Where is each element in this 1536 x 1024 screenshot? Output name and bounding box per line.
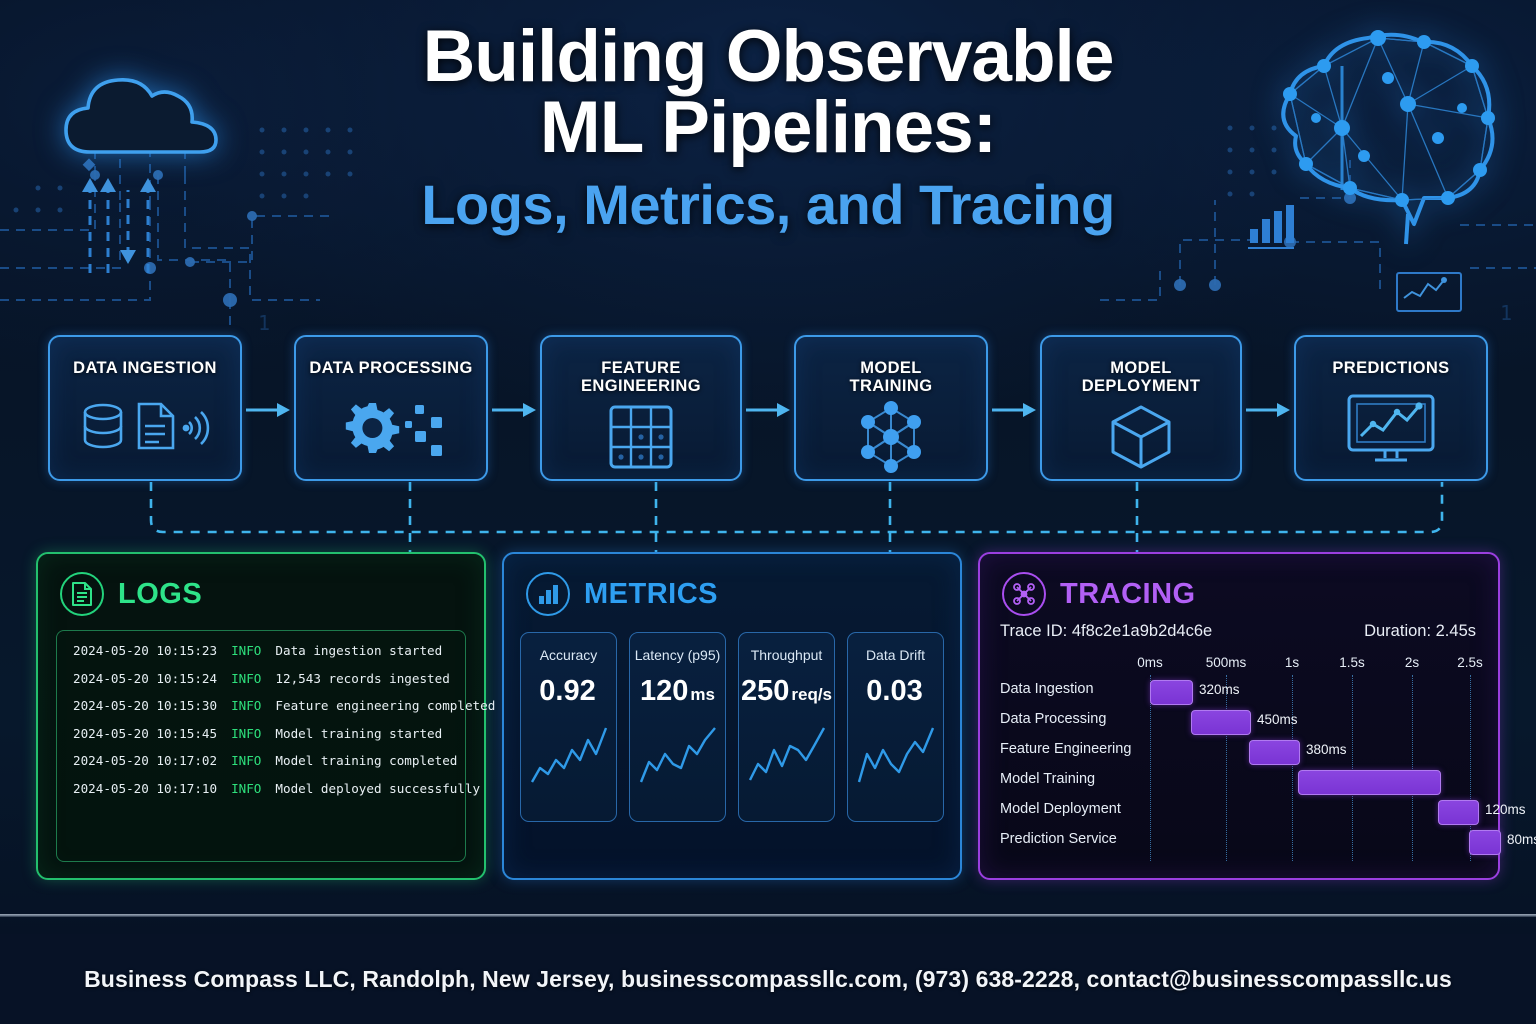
span-name: Prediction Service	[1000, 831, 1117, 847]
span-duration: 80ms	[1507, 832, 1536, 847]
list-item: 2024-05-20 10:17:10INFOModel deployed su…	[73, 783, 449, 796]
pipeline-stage-feature-engineering[interactable]: FEATURE ENGINEERING	[540, 335, 742, 481]
pipeline-stage-model-deployment[interactable]: MODEL DEPLOYMENT	[1040, 335, 1242, 481]
tracing-panel-title: TRACING	[1060, 578, 1196, 611]
metric-card-throughput[interactable]: Throughput 250req/s	[738, 632, 835, 822]
axis-tick: 1.5s	[1339, 655, 1365, 670]
metric-number: 0.92	[539, 675, 595, 707]
span-duration: 120ms	[1485, 802, 1526, 817]
pipeline-stage-label: MODEL DEPLOYMENT	[1082, 359, 1201, 396]
trace-nodes-icon	[1002, 572, 1046, 616]
sparkline-accuracy	[530, 724, 608, 791]
span-name: Feature Engineering	[1000, 741, 1131, 757]
log-message: Model training started	[275, 726, 442, 741]
log-message: Model training completed	[275, 753, 457, 768]
axis-tick: 1s	[1285, 655, 1299, 670]
table-row[interactable]: Model Deployment 120ms	[980, 799, 1498, 825]
title-main: Building Observable ML Pipelines:	[0, 22, 1536, 164]
line-chart-icon	[1396, 272, 1462, 312]
axis-tick: 500ms	[1206, 655, 1247, 670]
gantt-axis: 0ms 500ms 1s 1.5s 2s 2.5s	[980, 655, 1498, 675]
pipeline-stage-predictions[interactable]: PREDICTIONS	[1294, 335, 1488, 481]
list-item: 2024-05-20 10:15:24INFO12,543 records in…	[73, 673, 449, 686]
pipeline-stage-model-training[interactable]: MODEL TRAINING	[794, 335, 988, 481]
circuit-digit: 1	[258, 311, 270, 335]
title-line-2: ML Pipelines:	[0, 93, 1536, 164]
sparkline-data-drift	[857, 724, 935, 791]
span-bar[interactable]	[1298, 770, 1441, 795]
cube-icon	[1105, 396, 1177, 479]
stage-label-line1: FEATURE	[601, 359, 681, 377]
log-level: INFO	[231, 671, 261, 686]
span-duration: 380ms	[1306, 742, 1347, 757]
footer-contact-text: Business Compass LLC, Randolph, New Jers…	[84, 966, 1452, 993]
stage-label-line1: MODEL	[860, 359, 922, 377]
logs-panel: LOGS 2024-05-20 10:15:23INFOData ingesti…	[36, 552, 486, 880]
pipeline-stage-label: DATA PROCESSING	[309, 359, 472, 377]
stage-label-line2: ENGINEERING	[581, 377, 701, 395]
span-name: Data Processing	[1000, 711, 1106, 727]
span-name: Model Training	[1000, 771, 1095, 787]
bar-chart-icon	[526, 572, 570, 616]
trace-duration: Duration: 2.45s	[1364, 622, 1476, 641]
metric-cards: Accuracy 0.92 Latency (p95) 120ms	[520, 632, 944, 822]
stage-label-line1: MODEL	[1110, 359, 1172, 377]
log-timestamp: 2024-05-20 10:15:23	[73, 643, 217, 658]
metric-card-latency[interactable]: Latency (p95) 120ms	[629, 632, 726, 822]
document-lines-icon	[60, 572, 104, 616]
span-name: Data Ingestion	[1000, 681, 1094, 697]
arrow-right-icon	[988, 335, 1040, 485]
metric-value: 0.92	[539, 675, 597, 708]
database-document-stream-icon	[77, 377, 213, 479]
axis-tick: 2.5s	[1457, 655, 1483, 670]
log-level: INFO	[231, 753, 261, 768]
log-timestamp: 2024-05-20 10:15:24	[73, 671, 217, 686]
log-level: INFO	[231, 643, 261, 658]
metric-number: 250	[741, 675, 789, 707]
trace-gantt-chart: 0ms 500ms 1s 1.5s 2s 2.5s Data Ingestion	[980, 655, 1498, 867]
arrow-right-icon	[1242, 335, 1294, 485]
span-bar[interactable]	[1150, 680, 1193, 705]
pipeline-stage-data-processing[interactable]: DATA PROCESSING	[294, 335, 488, 481]
stage-label-line2: DEPLOYMENT	[1082, 377, 1201, 395]
pipeline-to-panels-connectors	[0, 480, 1536, 560]
list-item: 2024-05-20 10:17:02INFOModel training co…	[73, 755, 449, 768]
tracing-panel: TRACING Trace ID: 4f8c2e1a9b2d4c6e Durat…	[978, 552, 1500, 880]
infographic-root: 1 1	[0, 0, 1536, 1024]
metric-label: Latency (p95)	[635, 647, 721, 663]
log-level: INFO	[231, 781, 261, 796]
trace-id: Trace ID: 4f8c2e1a9b2d4c6e	[1000, 622, 1212, 641]
footer-divider	[0, 914, 1536, 917]
span-bar[interactable]	[1438, 800, 1479, 825]
metric-value: 120ms	[640, 675, 715, 708]
metric-number: 0.03	[866, 675, 922, 707]
title-line-1: Building Observable	[423, 16, 1114, 97]
log-level: INFO	[231, 726, 261, 741]
arrow-right-icon	[242, 335, 294, 485]
span-duration: 450ms	[1257, 712, 1298, 727]
metrics-panel-header: METRICS	[504, 554, 960, 616]
table-row[interactable]: Feature Engineering 380ms	[980, 739, 1498, 765]
table-row[interactable]: Data Ingestion 320ms	[980, 679, 1498, 705]
pipeline-stage-label: MODEL TRAINING	[850, 359, 933, 396]
pipeline-stage-data-ingestion[interactable]: DATA INGESTION	[48, 335, 242, 481]
axis-tick: 0ms	[1137, 655, 1163, 670]
monitor-chart-icon	[1341, 377, 1441, 479]
list-item: 2024-05-20 10:15:23INFOData ingestion st…	[73, 645, 449, 658]
metric-number: 120	[640, 675, 688, 707]
metric-label: Throughput	[751, 647, 823, 663]
metric-card-accuracy[interactable]: Accuracy 0.92	[520, 632, 617, 822]
metric-value: 0.03	[866, 675, 924, 708]
span-bar[interactable]	[1469, 830, 1501, 855]
neural-network-icon	[852, 396, 930, 479]
metric-value: 250req/s	[741, 675, 832, 708]
logs-panel-header: LOGS	[38, 554, 484, 616]
log-message: 12,543 records ingested	[275, 671, 449, 686]
stage-label-line2: TRAINING	[850, 377, 933, 395]
trace-meta: Trace ID: 4f8c2e1a9b2d4c6e Duration: 2.4…	[980, 616, 1498, 641]
log-timestamp: 2024-05-20 10:17:10	[73, 781, 217, 796]
metric-card-data-drift[interactable]: Data Drift 0.03	[847, 632, 944, 822]
list-item: 2024-05-20 10:15:30INFOFeature engineeri…	[73, 700, 449, 713]
log-timestamp: 2024-05-20 10:17:02	[73, 753, 217, 768]
logs-panel-title: LOGS	[118, 578, 202, 611]
tracing-panel-header: TRACING	[980, 554, 1498, 616]
footer: Business Compass LLC, Randolph, New Jers…	[0, 934, 1536, 1024]
arrow-right-icon	[742, 335, 794, 485]
sparkline-throughput	[748, 724, 826, 791]
log-entries-list[interactable]: 2024-05-20 10:15:23INFOData ingestion st…	[56, 630, 466, 862]
list-item: 2024-05-20 10:15:45INFOModel training st…	[73, 728, 449, 741]
observability-panels: LOGS 2024-05-20 10:15:23INFOData ingesti…	[36, 552, 1500, 880]
pipeline-stage-label: PREDICTIONS	[1332, 359, 1449, 377]
table-row[interactable]: Model Training 1.10s	[980, 769, 1498, 795]
table-row[interactable]: Prediction Service 80ms	[980, 829, 1498, 855]
page-title: Building Observable ML Pipelines: Logs, …	[0, 22, 1536, 237]
grid-table-icon	[606, 396, 676, 479]
gear-nodes-icon	[331, 377, 451, 479]
pipeline-stage-label: DATA INGESTION	[73, 359, 217, 377]
arrow-right-icon	[488, 335, 540, 485]
table-row[interactable]: Data Processing 450ms	[980, 709, 1498, 735]
title-subtitle: Logs, Metrics, and Tracing	[0, 172, 1536, 237]
sparkline-latency	[639, 724, 717, 791]
metrics-panel: METRICS Accuracy 0.92 Latency (p95)	[502, 552, 962, 880]
pipeline-flow: DATA INGESTION	[48, 335, 1488, 485]
log-timestamp: 2024-05-20 10:15:30	[73, 698, 217, 713]
log-message: Feature engineering completed	[275, 698, 495, 713]
log-timestamp: 2024-05-20 10:15:45	[73, 726, 217, 741]
span-name: Model Deployment	[1000, 801, 1121, 817]
metrics-panel-title: METRICS	[584, 578, 718, 611]
metric-unit: req/s	[791, 685, 832, 704]
pipeline-stage-label: FEATURE ENGINEERING	[581, 359, 701, 396]
log-message: Data ingestion started	[275, 643, 442, 658]
log-message: Model deployed successfully	[275, 781, 480, 796]
metric-label: Accuracy	[540, 647, 598, 663]
metric-unit: ms	[690, 685, 715, 704]
span-bar[interactable]	[1249, 740, 1300, 765]
metric-label: Data Drift	[866, 647, 925, 663]
log-level: INFO	[231, 698, 261, 713]
axis-tick: 2s	[1405, 655, 1419, 670]
span-bar[interactable]	[1191, 710, 1251, 735]
span-duration: 320ms	[1199, 682, 1240, 697]
